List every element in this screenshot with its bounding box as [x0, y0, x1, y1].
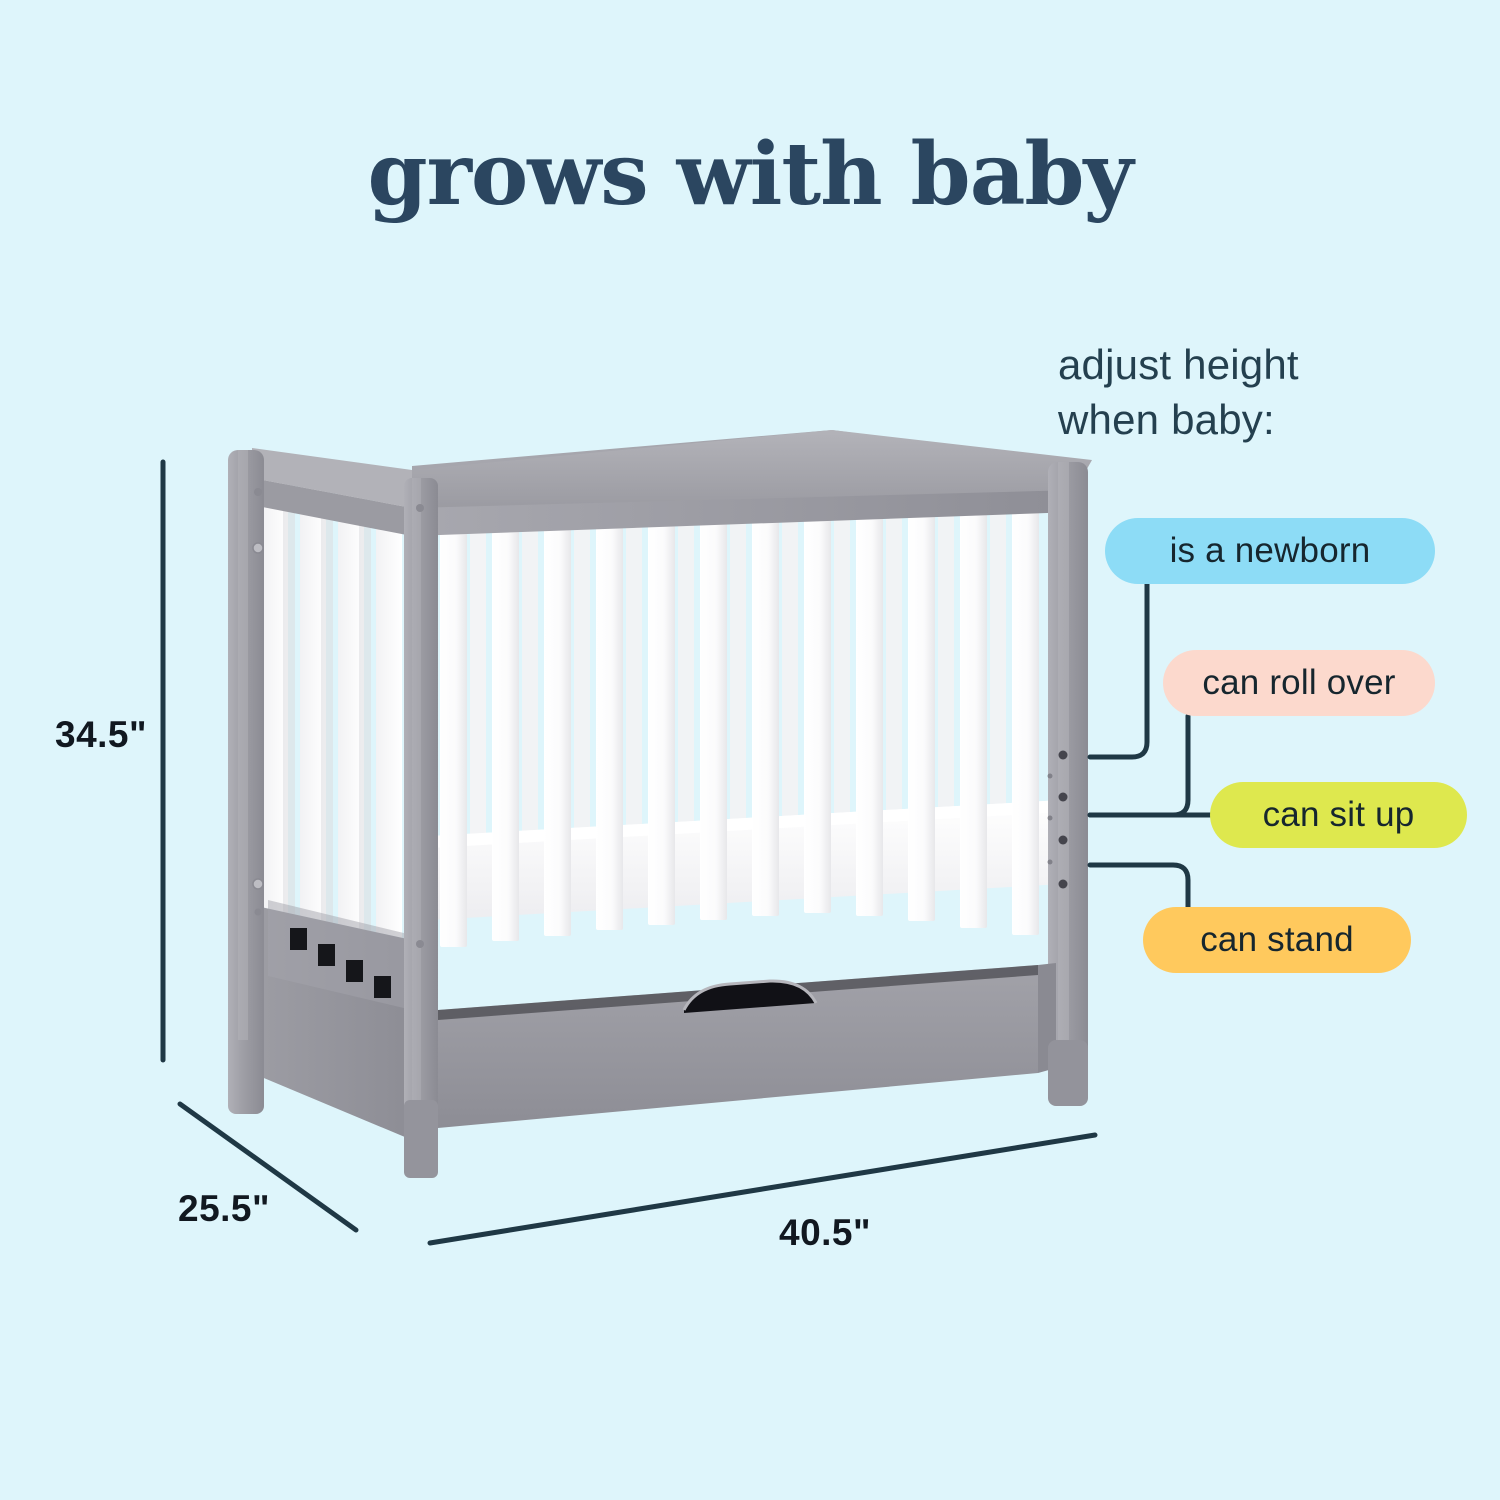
infographic-canvas: grows with baby: [0, 0, 1500, 1500]
height-dimension-label: 34.5": [55, 714, 147, 756]
caption-line-2: when baby:: [1058, 392, 1478, 447]
adjust-height-caption: adjust height when baby:: [1058, 337, 1478, 448]
milestone-pill-newborn[interactable]: is a newborn: [1105, 518, 1435, 584]
depth-dimension-label: 25.5": [178, 1188, 270, 1230]
caption-line-1: adjust height: [1058, 337, 1478, 392]
dimension-lines: [0, 0, 1500, 1500]
milestone-pill-sit-up[interactable]: can sit up: [1210, 782, 1467, 848]
milestone-pill-stand[interactable]: can stand: [1143, 907, 1411, 973]
width-dimension-label: 40.5": [779, 1212, 871, 1254]
width-dimension-line: [430, 1135, 1095, 1243]
milestone-pill-roll-over[interactable]: can roll over: [1163, 650, 1435, 716]
